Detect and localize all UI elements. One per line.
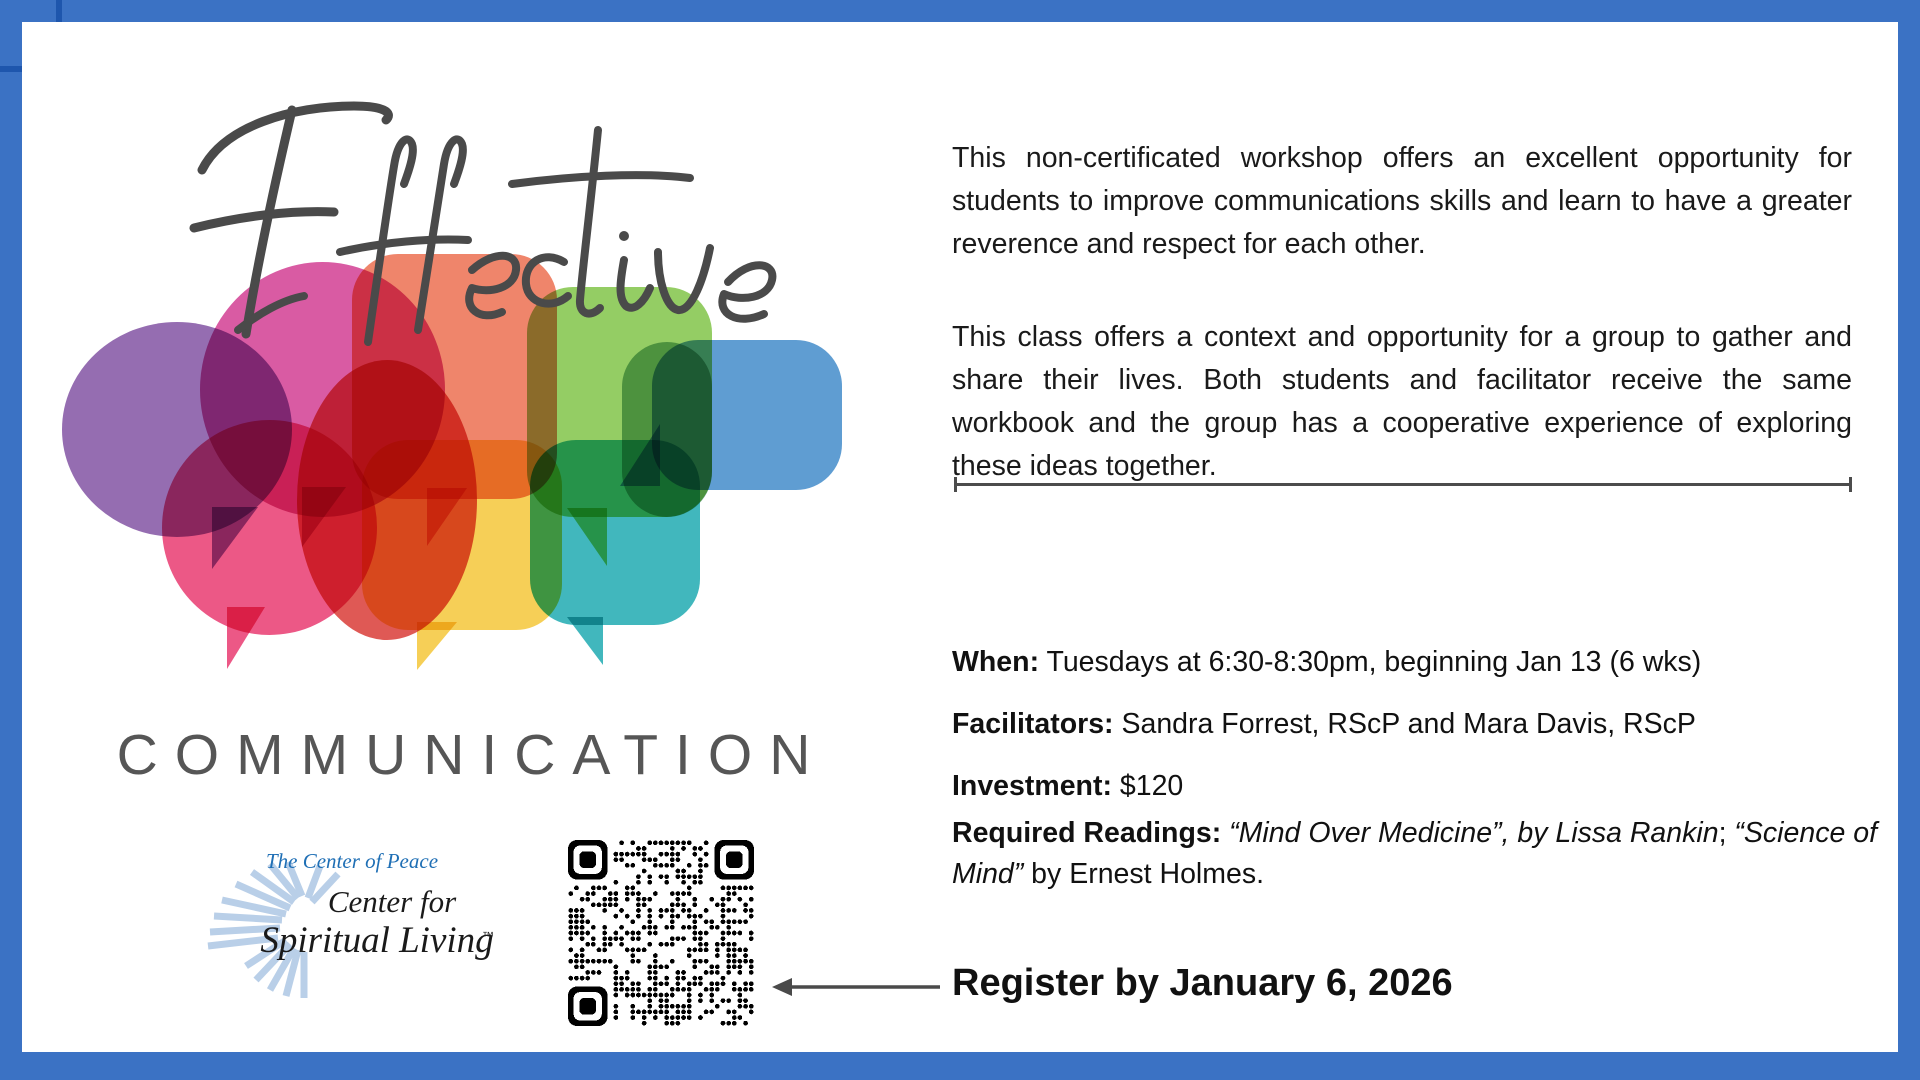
description-paragraph-2: This class offers a context and opportun… bbox=[952, 316, 1852, 488]
details-list: When: Tuesdays at 6:30-8:30pm, beginning… bbox=[952, 642, 1882, 916]
green-teal-overlap bbox=[622, 342, 712, 517]
detail-when: When: Tuesdays at 6:30-8:30pm, beginning… bbox=[952, 642, 1882, 683]
org-line2-text: Spiritual Living bbox=[260, 920, 493, 961]
content-column: This non-certificated workshop offers an… bbox=[922, 22, 1898, 1052]
readings-label: Required Readings: bbox=[952, 817, 1221, 849]
pink-bubble-tail bbox=[227, 607, 265, 669]
communication-wordmark: COMMUNICATION bbox=[22, 722, 922, 788]
effective-script-wordmark bbox=[172, 92, 812, 352]
divider-line bbox=[954, 483, 1852, 486]
facilitators-value: Sandra Forrest, RScP and Mara Davis, RSc… bbox=[1121, 708, 1695, 740]
logo-column: COMMUNICATION bbox=[22, 22, 922, 1052]
detail-investment: Investment: $120 bbox=[952, 766, 1882, 807]
speech-bubble-artwork bbox=[62, 312, 882, 712]
readings-separator: ; bbox=[1719, 817, 1727, 849]
qr-code[interactable] bbox=[568, 840, 754, 1026]
detail-required-readings: Required Readings: “Mind Over Medicine”,… bbox=[952, 813, 1882, 895]
poster-card: COMMUNICATION bbox=[22, 22, 1898, 1052]
description-paragraph-1: This non-certificated workshop offers an… bbox=[952, 137, 1852, 266]
register-row: Register by January 6, 2026 bbox=[772, 962, 1892, 1022]
when-value: Tuesdays at 6:30-8:30pm, beginning Jan 1… bbox=[1046, 646, 1701, 678]
divider-cap-right bbox=[1849, 477, 1852, 492]
org-line1-text: Center for bbox=[328, 884, 457, 919]
center-for-spiritual-living-logo: The Center of Peace Center for Spiritual… bbox=[192, 840, 512, 1005]
section-divider bbox=[954, 477, 1852, 491]
left-arrow-icon bbox=[772, 976, 942, 998]
facilitators-label: Facilitators: bbox=[952, 708, 1114, 740]
org-trademark-text: ™ bbox=[482, 929, 494, 943]
detail-facilitators: Facilitators: Sandra Forrest, RScP and M… bbox=[952, 704, 1882, 745]
yellow-bubble-tail bbox=[417, 622, 457, 670]
org-tagline-text: The Center of Peace bbox=[266, 849, 438, 873]
investment-label: Investment: bbox=[952, 770, 1112, 802]
investment-value: $120 bbox=[1120, 770, 1183, 802]
teal-bubble-tail bbox=[567, 617, 603, 665]
readings-title-1: “Mind Over Medicine”, by Lissa Rankin bbox=[1229, 817, 1718, 849]
when-label: When: bbox=[952, 646, 1039, 678]
flyer-poster: COMMUNICATION bbox=[0, 0, 1920, 1080]
register-deadline-text: Register by January 6, 2026 bbox=[952, 962, 1453, 1005]
readings-author-2: by Ernest Holmes. bbox=[1023, 858, 1264, 890]
